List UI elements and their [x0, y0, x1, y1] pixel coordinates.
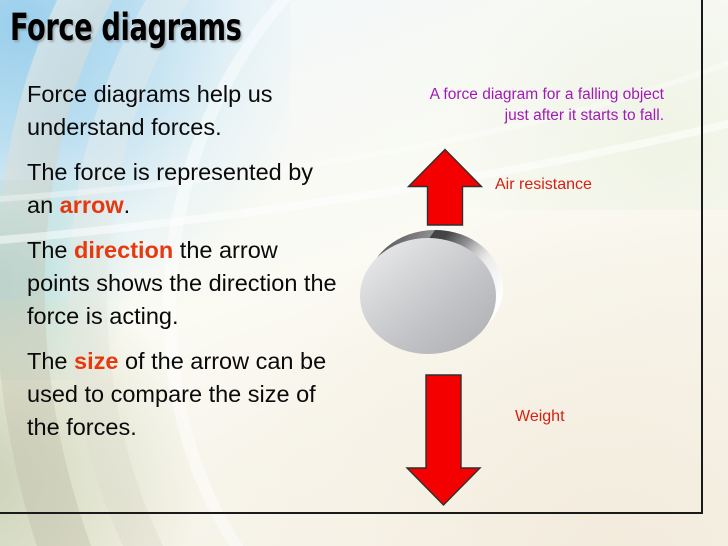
caption-line-1: A force diagram for a falling object — [352, 84, 664, 105]
air-resistance-arrow — [409, 150, 482, 226]
paragraph-1: Force diagrams help us understand forces… — [27, 78, 345, 144]
falling-object-sphere — [360, 230, 503, 354]
text-2-3: . — [124, 192, 131, 218]
weight-arrow — [407, 375, 480, 505]
paragraph-2: The force is represented by an arrow. — [27, 156, 345, 222]
body-text-column: Force diagrams help us understand forces… — [27, 78, 345, 444]
text-3-1: The — [27, 237, 74, 263]
keyword-3-2: direction — [74, 237, 173, 263]
text-1-1: Force diagrams help us understand forces… — [27, 81, 273, 140]
paragraph-4: The size of the arrow can be used to com… — [27, 345, 345, 444]
keyword-2-2: arrow — [60, 192, 124, 218]
paragraph-3: The direction the arrow points shows the… — [27, 234, 345, 333]
keyword-4-2: size — [74, 348, 118, 374]
caption-line-2: just after it starts to fall. — [352, 105, 664, 126]
force-diagram-figure — [340, 130, 550, 510]
text-4-1: The — [27, 348, 74, 374]
slide-root: Force diagrams Force diagrams help us un… — [0, 0, 728, 546]
page-title: Force diagrams — [10, 6, 242, 49]
diagram-caption: A force diagram for a falling object jus… — [352, 84, 664, 126]
